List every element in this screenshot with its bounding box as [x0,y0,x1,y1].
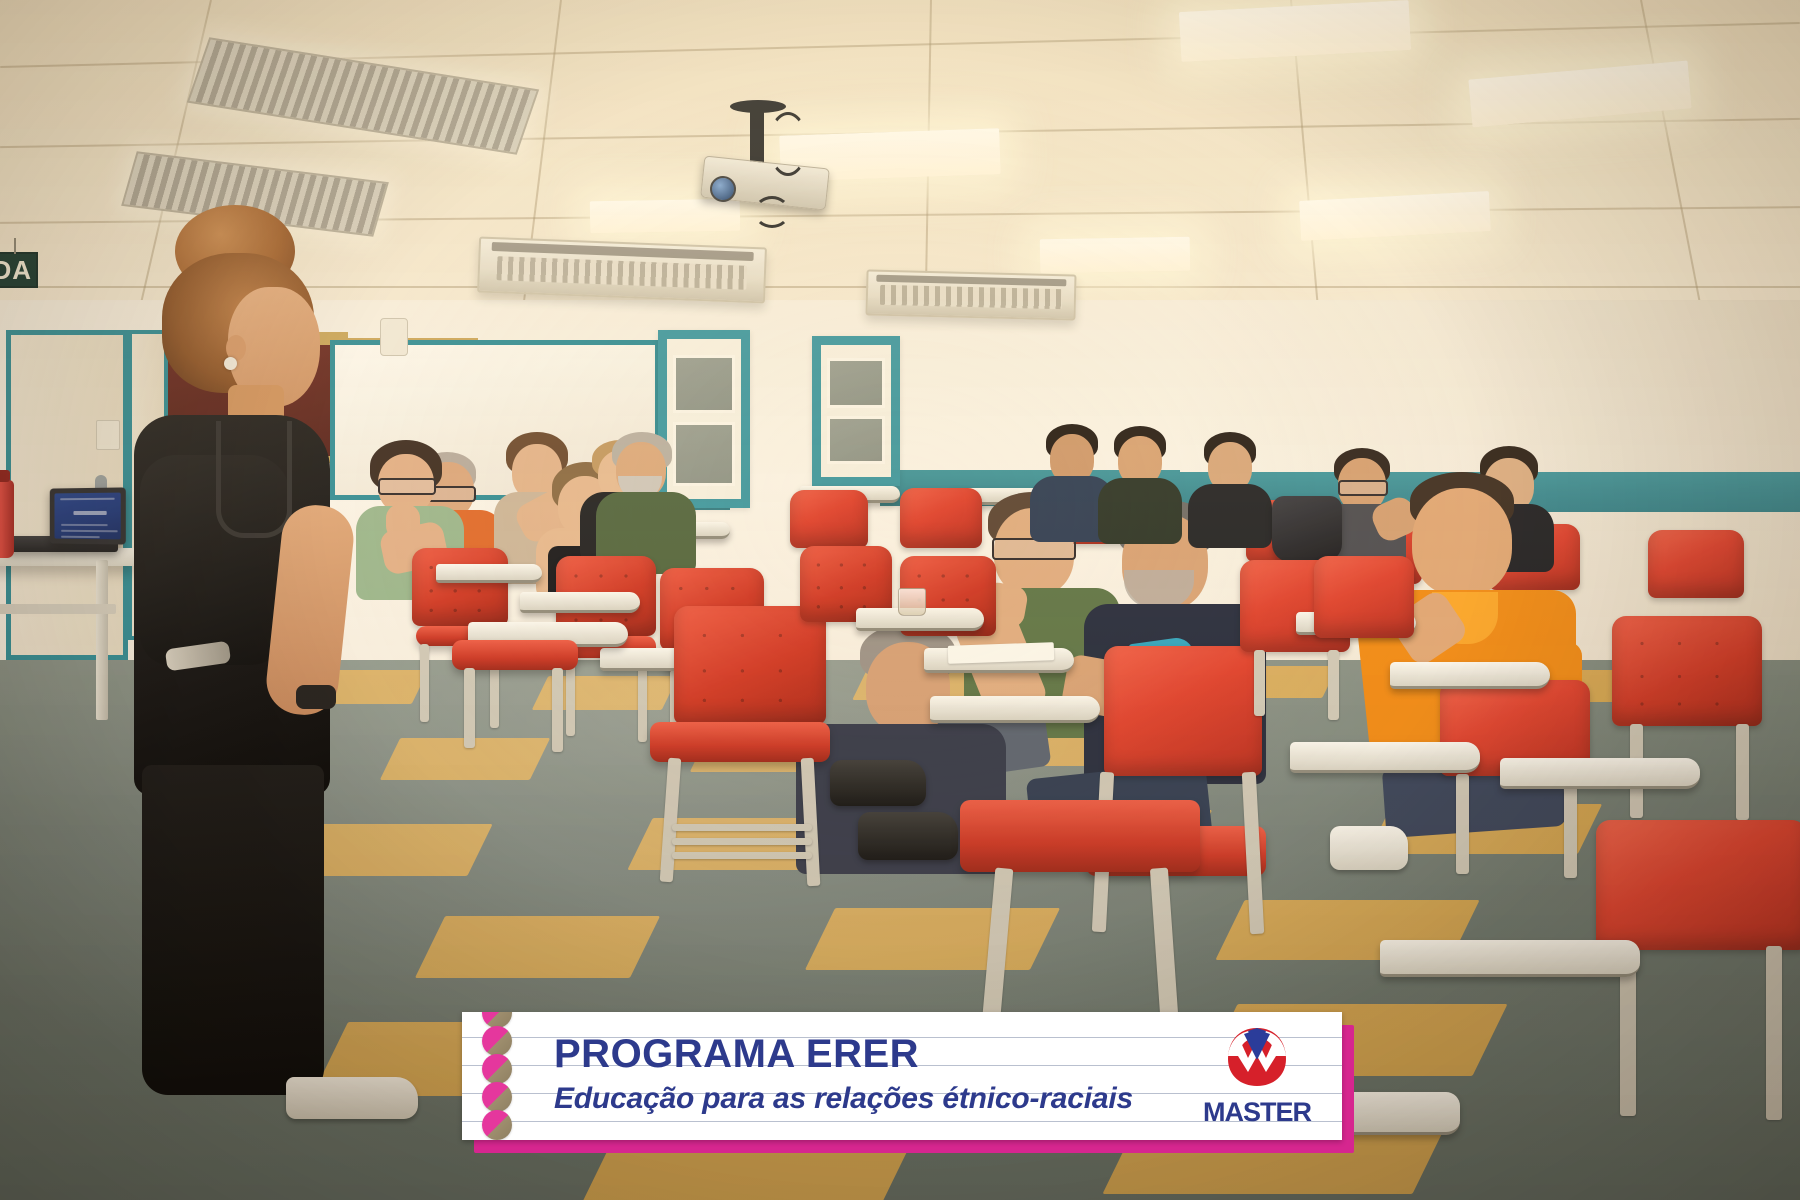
exit-sign-label: DA [0,255,32,286]
classroom-chair[interactable] [1314,556,1414,676]
ceiling-projector [690,100,850,220]
desk-tablet-arm [1390,662,1550,689]
air-conditioner [865,269,1076,320]
ceiling-light [1179,0,1411,62]
shoe [286,1077,418,1119]
wall-speaker [380,318,408,356]
table-leg [96,560,108,720]
laptop-screen [54,493,120,540]
program-banner: PROGRAMA ERER Educação para as relações … [462,1012,1342,1140]
shoe [830,760,926,806]
master-logo-mark [1224,1026,1290,1088]
exit-sign: DA [0,252,38,288]
banner-dot [482,1026,512,1056]
classroom-chair[interactable] [452,640,578,750]
paper [948,642,1055,664]
banner-dot [482,1110,512,1140]
desk-tablet-arm [520,592,640,613]
desk-tablet-arm [1380,940,1640,977]
cup [898,588,926,616]
bottle-cap [0,470,10,482]
master-logo: MASTER [1192,1026,1322,1130]
classroom-chair[interactable] [800,546,892,666]
laptop[interactable] [50,487,126,544]
table-crossbar [0,604,116,614]
master-wordmark: MASTER [1192,1097,1322,1128]
air-conditioner [477,236,767,303]
ceiling-light [1299,191,1491,241]
desk-tablet-arm [436,564,542,583]
wall-switch[interactable] [96,420,120,450]
shoe [858,812,958,860]
ceiling-light [1040,237,1191,274]
wristwatch [296,685,336,709]
presenter [120,205,380,1035]
banner-subtitle: Educação para as relações étnico-raciais [554,1084,1133,1114]
presenter-skirt [142,765,324,1095]
earring [224,357,237,370]
audience-member [596,432,702,572]
desk-tablet-arm [1500,758,1700,789]
banner-dot [482,1082,512,1112]
backpack [1272,496,1342,562]
classroom-photo: DA [0,0,1800,1200]
desk-tablet-arm [1290,742,1480,773]
soda-bottle [0,480,14,558]
exit-sign-mount [14,238,16,254]
audience-member [1188,432,1274,548]
ceiling-light [1468,61,1691,128]
classroom-chair[interactable] [1648,530,1744,612]
shoe [1330,826,1408,870]
audience-member [1098,426,1184,546]
banner-dot [482,1054,512,1084]
lanyard [216,421,292,538]
window [812,336,900,486]
desk-tablet-arm [930,696,1100,723]
banner-title: PROGRAMA ERER [554,1034,919,1074]
